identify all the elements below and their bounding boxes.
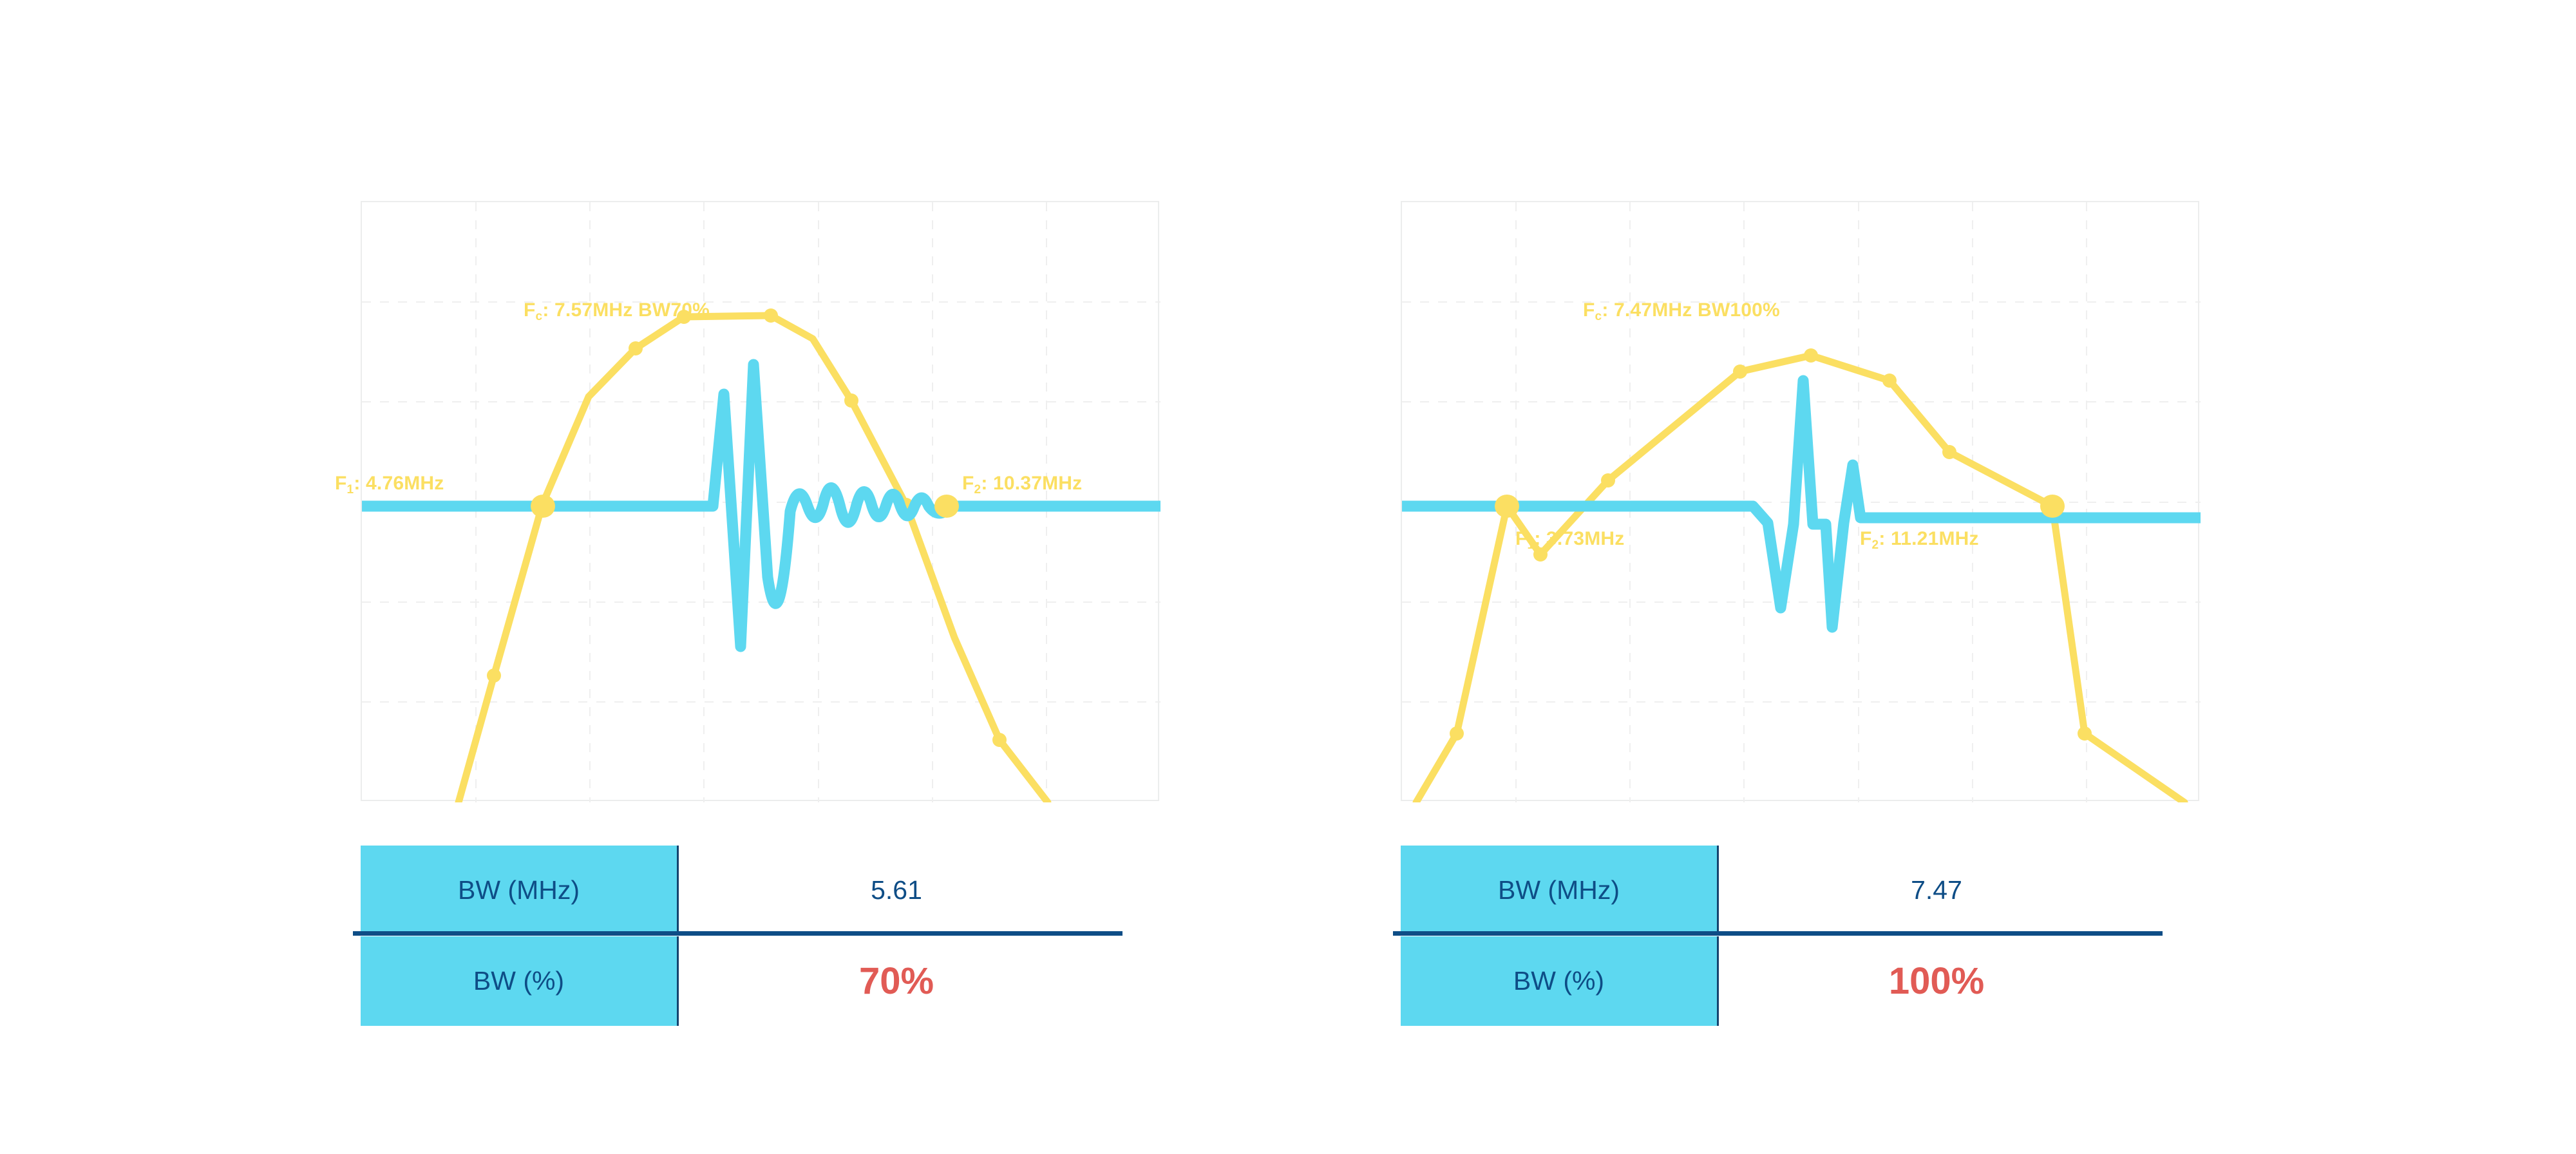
table-row: BW (MHz) 7.47 [1401,846,2154,935]
table-row: BW (%) 100% [1401,936,2154,1026]
bandwidth-table-right: BW (MHz) 7.47 BW (%) 100% [1401,846,2154,1026]
bandwidth-table-left: BW (MHz) 5.61 BW (%) 70% [361,846,1114,1026]
fc-symbol: F [524,299,536,321]
table-divider-left [353,931,1122,936]
fc-subscript: c [536,310,543,323]
table-key-bw-mhz: BW (MHz) [1401,846,1719,935]
measurement-panel-right: Fc: 7.47MHz BW100% F1: 3.73MHz F2: 11.21… [1040,0,2328,1154]
table-value-bw-mhz: 7.47 [1719,846,2154,935]
label-f1-left: F1: 4.76MHz [335,473,444,497]
table-key-bw-pct: BW (%) [1401,936,1719,1026]
table-value-bw-pct: 100% [1719,936,2154,1026]
f1-symbol: F [1515,528,1528,549]
table-row: BW (MHz) 5.61 [361,846,1114,935]
f2-symbol: F [1860,528,1872,549]
f1-text: : 3.73MHz [1534,528,1624,549]
table-divider-right [1393,931,2163,936]
label-f1-right: F1: 3.73MHz [1515,528,1624,553]
chart-right: Fc: 7.47MHz BW100% F1: 3.73MHz F2: 11.21… [1393,194,2206,808]
f1-symbol: F [335,473,347,494]
table-key-bw-pct: BW (%) [361,936,679,1026]
fc-text: : 7.47MHz BW100% [1602,299,1780,321]
label-center-frequency-left: Fc: 7.57MHz BW70% [524,299,710,324]
label-f2-right: F2: 11.21MHz [1860,528,1979,553]
label-center-frequency-right: Fc: 7.47MHz BW100% [1583,299,1780,324]
pulse-waveform-right [1402,381,2201,627]
fc-text: : 7.57MHz BW70% [542,299,710,321]
f2-symbol: F [962,473,974,494]
plot-canvas-right [1402,202,2201,802]
plot-frame-left [361,201,1159,801]
f2-subscript: 2 [974,483,981,497]
plot-frame-right [1401,201,2199,801]
f2-text: : 11.21MHz [1879,528,1978,549]
table-key-bw-mhz: BW (MHz) [361,846,679,935]
f1-text: : 4.76MHz [354,473,444,494]
fc-symbol: F [1583,299,1595,321]
fc-subscript: c [1595,310,1602,323]
f1-subscript: 1 [1528,538,1535,552]
f1-subscript: 1 [347,483,354,497]
f2-subscript: 2 [1872,538,1879,552]
table-row: BW (%) 70% [361,936,1114,1026]
